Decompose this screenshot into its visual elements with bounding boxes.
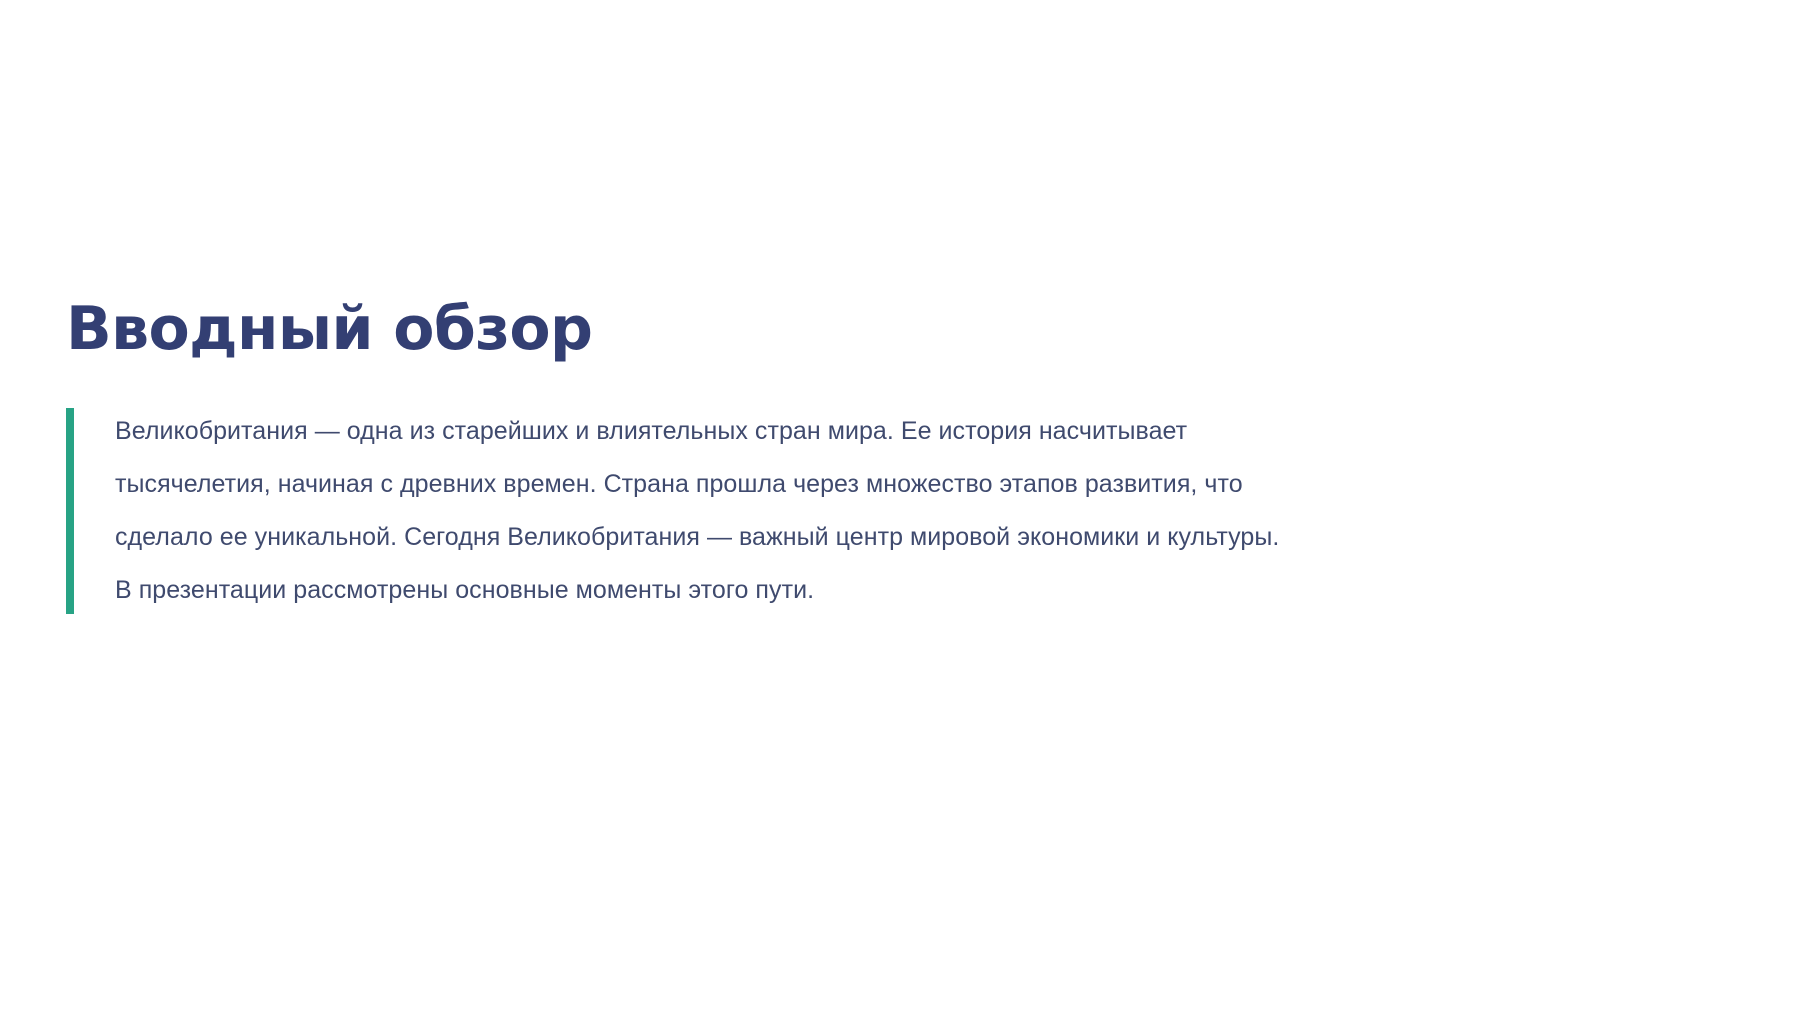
- body-paragraph: Великобритания — одна из старейших и вли…: [115, 405, 1535, 617]
- accent-bar: [66, 408, 74, 614]
- body-line: тысячелетия, начиная с древних времен. С…: [115, 458, 1535, 511]
- slide-content: Вводный обзор Великобритания — одна из с…: [66, 296, 1726, 617]
- body-line: Великобритания — одна из старейших и вли…: [115, 405, 1535, 458]
- presentation-slide: Вводный обзор Великобритания — одна из с…: [0, 0, 1800, 1013]
- body-line: В презентации рассмотрены основные момен…: [115, 564, 1535, 617]
- body-line: сделало ее уникальной. Сегодня Великобри…: [115, 511, 1535, 564]
- body-callout: Великобритания — одна из старейших и вли…: [66, 405, 1535, 617]
- page-title: Вводный обзор: [66, 296, 1726, 363]
